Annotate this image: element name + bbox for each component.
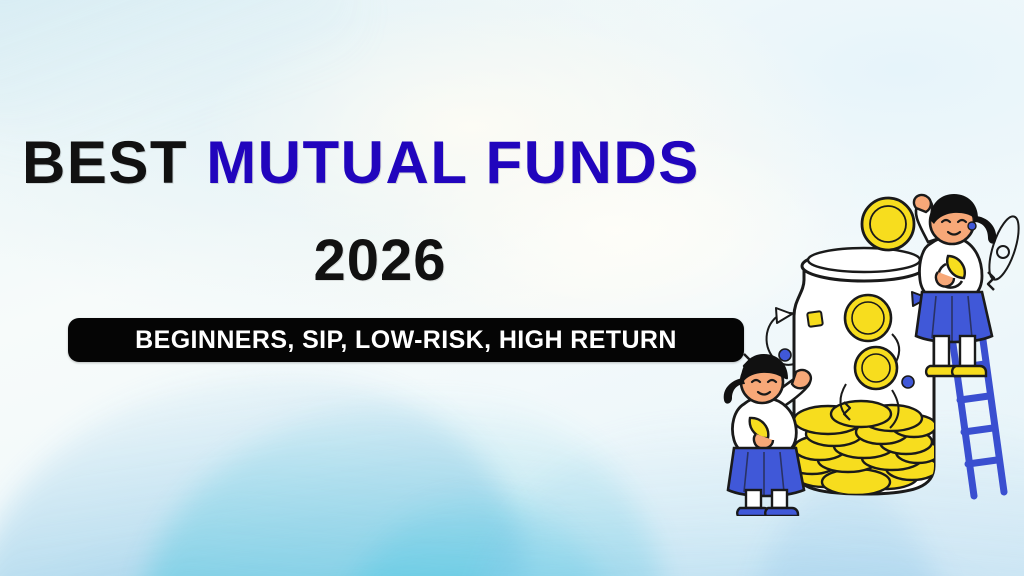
- jar-rim-inner: [808, 248, 920, 272]
- headline-blue-part: MUTUAL FUNDS: [206, 129, 700, 196]
- savings-jar-illustration: [716, 186, 1024, 516]
- coin-jar: [786, 248, 940, 495]
- tagline-text: BEGINNERS, SIP, LOW-RISK, HIGH RETURN: [135, 326, 677, 355]
- headline-black-part: BEST: [22, 129, 206, 196]
- tagline-pill: BEGINNERS, SIP, LOW-RISK, HIGH RETURN: [68, 318, 744, 362]
- zigzag-right-icon: [988, 272, 994, 290]
- promo-banner: BEST MUTUAL FUNDS 2026 BEGINNERS, SIP, L…: [0, 0, 1024, 576]
- yellow-square-icon: [807, 311, 823, 327]
- coin-inside-upper: [845, 295, 891, 341]
- white-triangle-icon: [776, 308, 792, 323]
- coin-pile: [786, 401, 940, 495]
- headline: BEST MUTUAL FUNDS: [22, 133, 902, 193]
- blue-dot-jar-icon: [902, 376, 914, 388]
- coin-inside-lower: [855, 347, 897, 389]
- year-text: 2026: [0, 232, 760, 290]
- blue-dot-left-icon: [779, 349, 791, 361]
- falling-coin: [862, 198, 914, 250]
